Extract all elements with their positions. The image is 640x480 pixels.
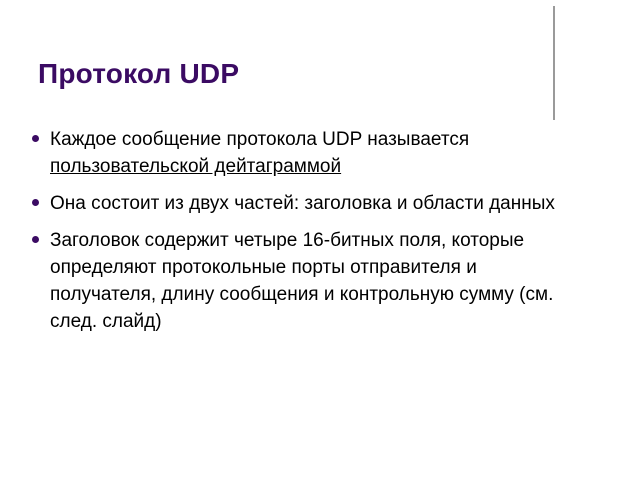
bullet-item: Каждое сообщение протокола UDP называетс… — [28, 126, 588, 180]
dot-cell-r7-c5 — [619, 76, 631, 88]
dot-cell-r8-c1 — [571, 88, 583, 100]
dot-cell-r7-c3 — [595, 76, 607, 88]
dot-cell-r5-c4 — [607, 52, 619, 64]
bullet-list: Каждое сообщение протокола UDP называетс… — [28, 126, 588, 345]
dot-cell-r3-c3 — [595, 28, 607, 40]
dot-cell-r8-c2 — [583, 88, 595, 100]
dot-cell-r2-c2 — [583, 16, 595, 28]
dot-cell-r1-c5 — [619, 4, 631, 16]
dot-cell-r5-c2 — [583, 52, 595, 64]
dot-grid — [571, 4, 631, 100]
dot-cell-r6-c1 — [571, 64, 583, 76]
dot-cell-r6-c5 — [619, 64, 631, 76]
bullet-text: Она состоит из двух частей: заголовка и … — [50, 190, 578, 217]
slide-canvas: Протокол UDP Каждое сообщение протокола … — [0, 0, 640, 480]
dot-cell-r3-c4 — [607, 28, 619, 40]
dot-cell-r5-c3 — [595, 52, 607, 64]
dot-cell-r4-c5 — [619, 40, 631, 52]
dot-cell-r4-c4 — [607, 40, 619, 52]
dot-cell-r8-c3 — [595, 88, 607, 100]
dot-cell-r4-c1 — [571, 40, 583, 52]
dot-cell-r6-c4 — [607, 64, 619, 76]
bullet-text-plain: Она состоит из двух частей: заголовка и … — [50, 193, 555, 214]
bullet-point-icon — [28, 227, 50, 243]
bullet-text: Заголовок содержит четыре 16-битных поля… — [50, 227, 578, 335]
dot-cell-r4-c2 — [583, 40, 595, 52]
decorative-dot-grid-motif — [545, 0, 640, 130]
dot-cell-r2-c3 — [595, 16, 607, 28]
dot-cell-r1-c2 — [583, 4, 595, 16]
bullet-point-icon — [28, 126, 50, 142]
dot-cell-r8-c5 — [619, 88, 631, 100]
dot-cell-r7-c1 — [571, 76, 583, 88]
dot-cell-r4-c3 — [595, 40, 607, 52]
bullet-text-emphasis: пользовательской дейтаграммой — [50, 156, 341, 177]
dot-cell-r3-c1 — [571, 28, 583, 40]
dot-cell-r2-c1 — [571, 16, 583, 28]
dot-cell-r6-c2 — [583, 64, 595, 76]
bullet-text-plain: Каждое сообщение протокола UDP называетс… — [50, 129, 469, 150]
dot-cell-r2-c4 — [607, 16, 619, 28]
dot-cell-r7-c4 — [607, 76, 619, 88]
vertical-rule-divider — [553, 6, 555, 120]
dot-cell-r3-c5 — [619, 28, 631, 40]
bullet-point-icon — [28, 190, 50, 206]
dot-cell-r1-c1 — [571, 4, 583, 16]
dot-cell-r5-c5 — [619, 52, 631, 64]
bullet-text-plain: Заголовок содержит четыре 16-битных поля… — [50, 230, 553, 332]
bullet-dot-icon — [32, 199, 39, 206]
dot-cell-r6-c3 — [595, 64, 607, 76]
dot-cell-r5-c1 — [571, 52, 583, 64]
bullet-text: Каждое сообщение протокола UDP называетс… — [50, 126, 578, 180]
dot-cell-r8-c4 — [607, 88, 619, 100]
dot-cell-r1-c3 — [595, 4, 607, 16]
bullet-item: Она состоит из двух частей: заголовка и … — [28, 190, 588, 217]
dot-cell-r3-c2 — [583, 28, 595, 40]
bullet-item: Заголовок содержит четыре 16-битных поля… — [28, 227, 588, 335]
dot-cell-r2-c5 — [619, 16, 631, 28]
slide-title: Протокол UDP — [38, 58, 239, 90]
dot-cell-r1-c4 — [607, 4, 619, 16]
bullet-dot-icon — [32, 135, 39, 142]
bullet-dot-icon — [32, 236, 39, 243]
dot-cell-r7-c2 — [583, 76, 595, 88]
